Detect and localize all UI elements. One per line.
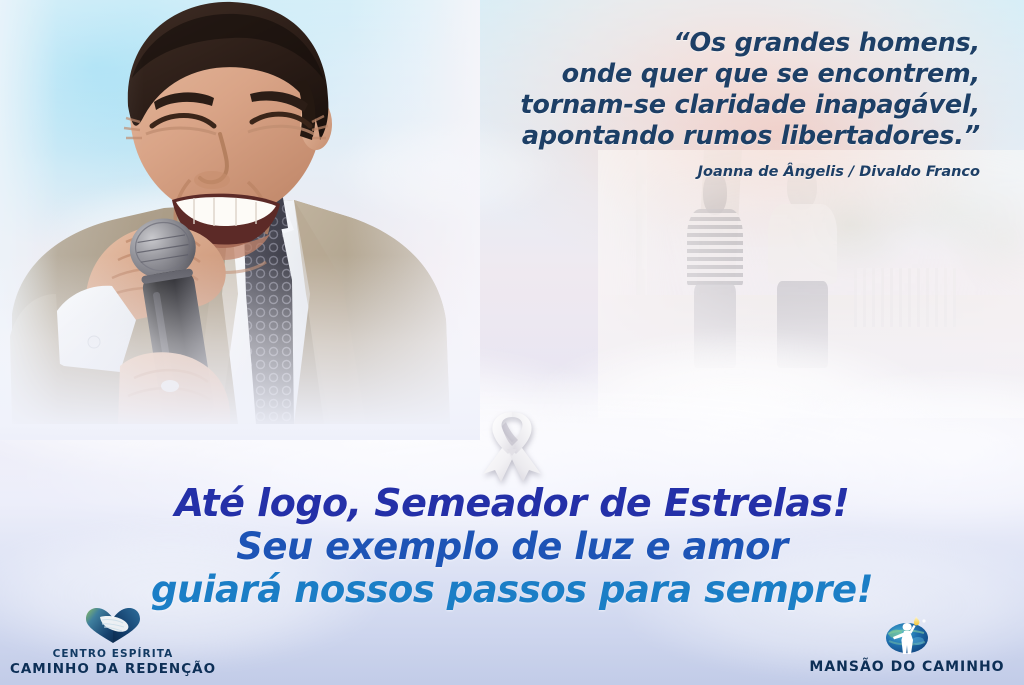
logo-centro-espirita: CENTRO ESPÍRITA CAMINHO DA REDENÇÃO xyxy=(8,606,218,677)
portrait-smiling-man-with-microphone xyxy=(0,0,464,424)
quote-line-3: tornam-se claridade inapagável, xyxy=(420,90,980,121)
logo-mansao-label: MANSÃO DO CAMINHO xyxy=(802,659,1012,675)
quote-line-2: onde quer que se encontrem, xyxy=(420,59,980,90)
quote-block: “Os grandes homens, onde quer que se enc… xyxy=(420,28,980,180)
headline-block: Até logo, Semeador de Estrelas! Seu exem… xyxy=(0,484,1024,608)
quote-attribution: Joanna de Ângelis / Divaldo Franco xyxy=(420,164,980,180)
white-awareness-ribbon-icon xyxy=(476,408,548,486)
logo-mansao-do-caminho: MANSÃO DO CAMINHO xyxy=(802,614,1012,675)
logo-centro-espirita-line1: CENTRO ESPÍRITA xyxy=(8,648,218,660)
headline-line-2: Seu exemplo de luz e amor xyxy=(0,528,1024,565)
globe-figure-flame-icon xyxy=(880,614,934,656)
headline-line-1: Até logo, Semeador de Estrelas! xyxy=(0,484,1024,522)
quote-line-4: apontando rumos libertadores.” xyxy=(420,121,980,152)
memorial-poster: “Os grandes homens, onde quer que se enc… xyxy=(0,0,1024,685)
headline-line-3: guiará nossos passos para sempre! xyxy=(0,571,1024,608)
quote-line-1: “Os grandes homens, xyxy=(420,28,980,59)
logo-centro-espirita-line2: CAMINHO DA REDENÇÃO xyxy=(8,661,218,677)
heart-hands-icon xyxy=(82,606,144,646)
